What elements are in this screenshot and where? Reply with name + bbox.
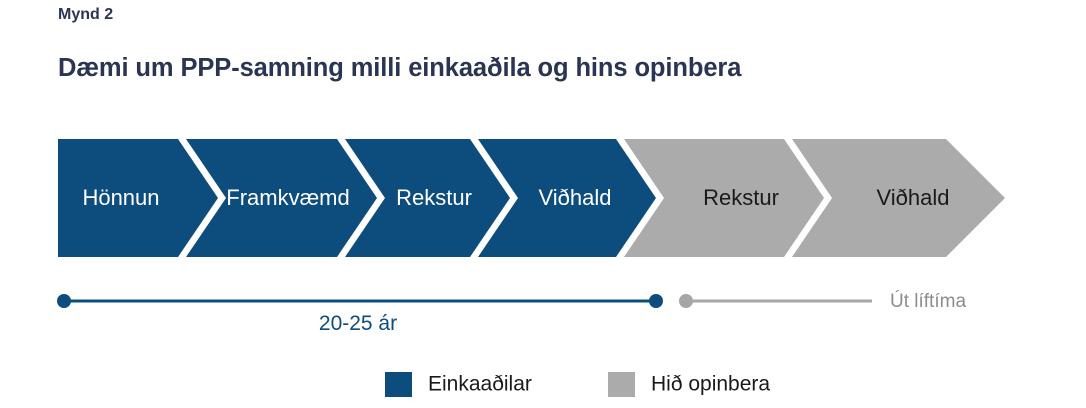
- timeline-public: Út líftíma: [679, 290, 966, 312]
- legend-item-public[interactable]: Hið opinbera: [608, 372, 770, 397]
- legend-item-private[interactable]: Einkaaðilar: [385, 372, 532, 397]
- stage-label-3: Rekstur: [396, 185, 472, 210]
- legend-swatch-private: [385, 372, 412, 397]
- figure-root: Mynd 2 Dæmi um PPP-samning milli einkaað…: [0, 0, 1086, 408]
- timeline-dot-private-end: [649, 294, 663, 308]
- legend-swatch-public: [608, 372, 635, 397]
- legend-label-private: Einkaaðilar: [428, 373, 532, 396]
- stage-label-1: Hönnun: [82, 185, 159, 210]
- legend-label-public: Hið opinbera: [651, 373, 770, 396]
- timeline-label-private: 20-25 ár: [319, 312, 397, 335]
- timeline-dot-public-start: [679, 294, 693, 308]
- stage-arrow-honnun[interactable]: Hönnun: [58, 139, 218, 257]
- legend: Einkaaðilar Hið opinbera: [385, 372, 770, 397]
- stage-label-6: Viðhald: [877, 185, 950, 210]
- stage-label-2: Framkvæmd: [226, 185, 349, 210]
- timeline-label-public: Út líftíma: [890, 290, 966, 312]
- ppp-process-diagram: Hönnun Framkvæmd Rekstur Viðhald Rekstur…: [0, 0, 1086, 408]
- stage-label-5: Rekstur: [703, 185, 779, 210]
- timeline-private: 20-25 ár: [57, 294, 663, 335]
- stage-label-4: Viðhald: [539, 185, 612, 210]
- timeline-dot-start: [57, 294, 71, 308]
